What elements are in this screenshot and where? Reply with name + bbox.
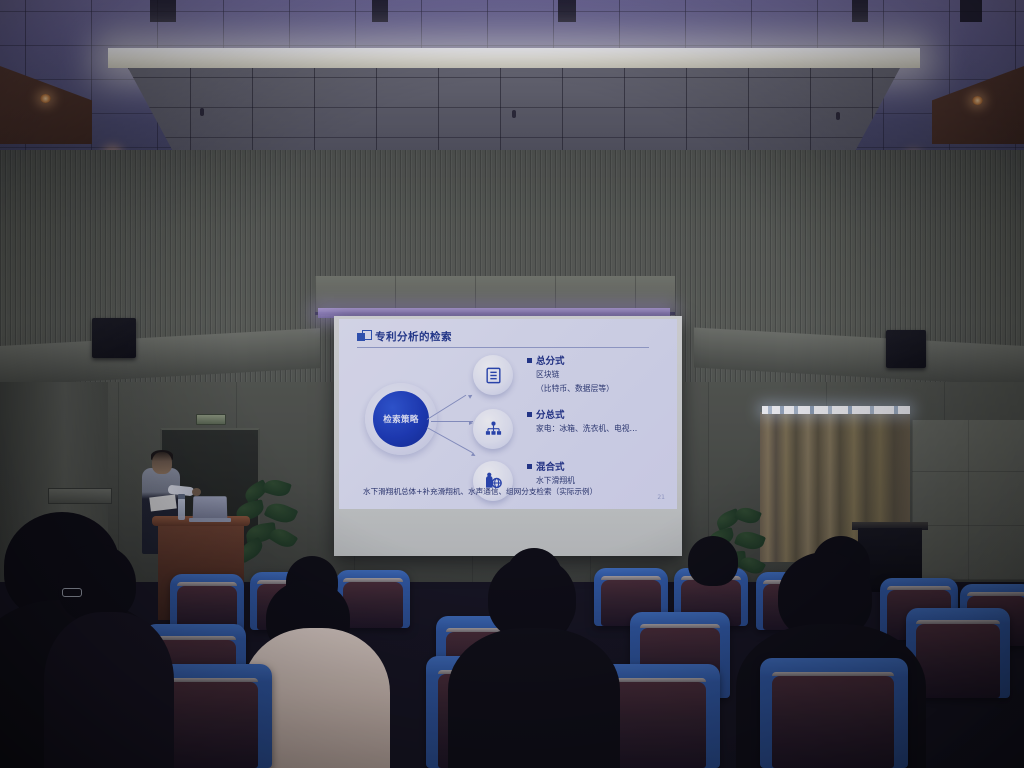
slide-title-rule xyxy=(357,347,649,348)
right-wall-section xyxy=(912,420,1024,580)
branch-heading-1: 总分式 xyxy=(536,353,565,367)
presenter-hand xyxy=(192,488,201,496)
valance-seams xyxy=(315,276,675,312)
audience-glasses xyxy=(62,588,82,597)
stacked-squares-icon xyxy=(357,330,370,343)
downlight xyxy=(972,96,983,105)
light-cove-strip xyxy=(108,48,920,68)
slide-title-row: 专利分析的检索 xyxy=(357,329,452,344)
center-node: 检索策略 xyxy=(373,391,429,447)
branch-text-1: 总分式 区块链 （比特币、数据层等） xyxy=(527,353,614,394)
ceiling-slot xyxy=(372,0,388,22)
branch-node-2 xyxy=(473,409,513,449)
projected-slide: 专利分析的检索 检索策略 xyxy=(339,319,677,509)
branch-line-1b: （比特币、数据层等） xyxy=(536,383,614,395)
wall-control-plate xyxy=(48,488,112,504)
laptop-base xyxy=(189,518,231,522)
bullet-square-icon xyxy=(527,358,532,363)
slide-footer-note: 水下滑翔机总体+补充滑翔机、水声通信、组网分支检索（实际示例） xyxy=(363,486,597,497)
exit-sign xyxy=(196,414,226,425)
bullet-square-icon xyxy=(527,464,532,469)
water-bottle xyxy=(178,498,185,520)
connector-line-2 xyxy=(431,421,473,422)
branch-line-3a: 水下滑翔机 xyxy=(536,475,575,487)
right-wall-seams xyxy=(912,420,1024,580)
wall-speaker-left xyxy=(92,318,136,358)
slide-title: 专利分析的检索 xyxy=(375,329,452,344)
branch-heading-3: 混合式 xyxy=(536,459,565,473)
curtain-rail-light xyxy=(762,406,910,414)
branch-line-1a: 区块链 xyxy=(536,369,614,381)
connector-line-3 xyxy=(427,427,473,453)
slide-page-number: 21 xyxy=(657,494,665,501)
document-list-icon xyxy=(484,366,503,385)
audience-shoulders xyxy=(448,628,620,768)
branch-text-2: 分总式 家电：冰箱、洗衣机、电视… xyxy=(527,407,637,435)
sprinkler-head xyxy=(512,110,516,118)
downlight xyxy=(40,94,51,103)
ceiling-slot xyxy=(852,0,868,22)
center-node-label: 检索策略 xyxy=(383,413,419,425)
audience-head xyxy=(58,544,136,622)
audience-shoulders xyxy=(44,612,174,768)
presenter-head xyxy=(152,452,172,474)
sprinkler-head xyxy=(836,112,840,120)
branch-node-1 xyxy=(473,355,513,395)
sprinkler-head xyxy=(200,108,204,116)
lecture-hall-scene: 专利分析的检索 检索策略 xyxy=(0,0,1024,768)
wall-speaker-right xyxy=(886,330,926,368)
branch-text-3: 混合式 水下滑翔机 xyxy=(527,459,575,487)
connector-arrow-3 xyxy=(471,452,476,457)
laptop xyxy=(193,496,228,520)
audience-head xyxy=(688,536,738,586)
branch-line-2a: 家电：冰箱、洗衣机、电视… xyxy=(536,423,637,435)
water-bottle-cap xyxy=(178,494,185,499)
bullet-square-icon xyxy=(527,412,532,417)
branch-heading-2: 分总式 xyxy=(536,407,565,421)
org-chart-icon xyxy=(484,420,503,439)
ceiling-slot xyxy=(558,0,576,22)
ceiling-slot xyxy=(150,0,176,22)
connector-arrow-1 xyxy=(468,393,474,399)
ceiling-slot xyxy=(960,0,982,22)
